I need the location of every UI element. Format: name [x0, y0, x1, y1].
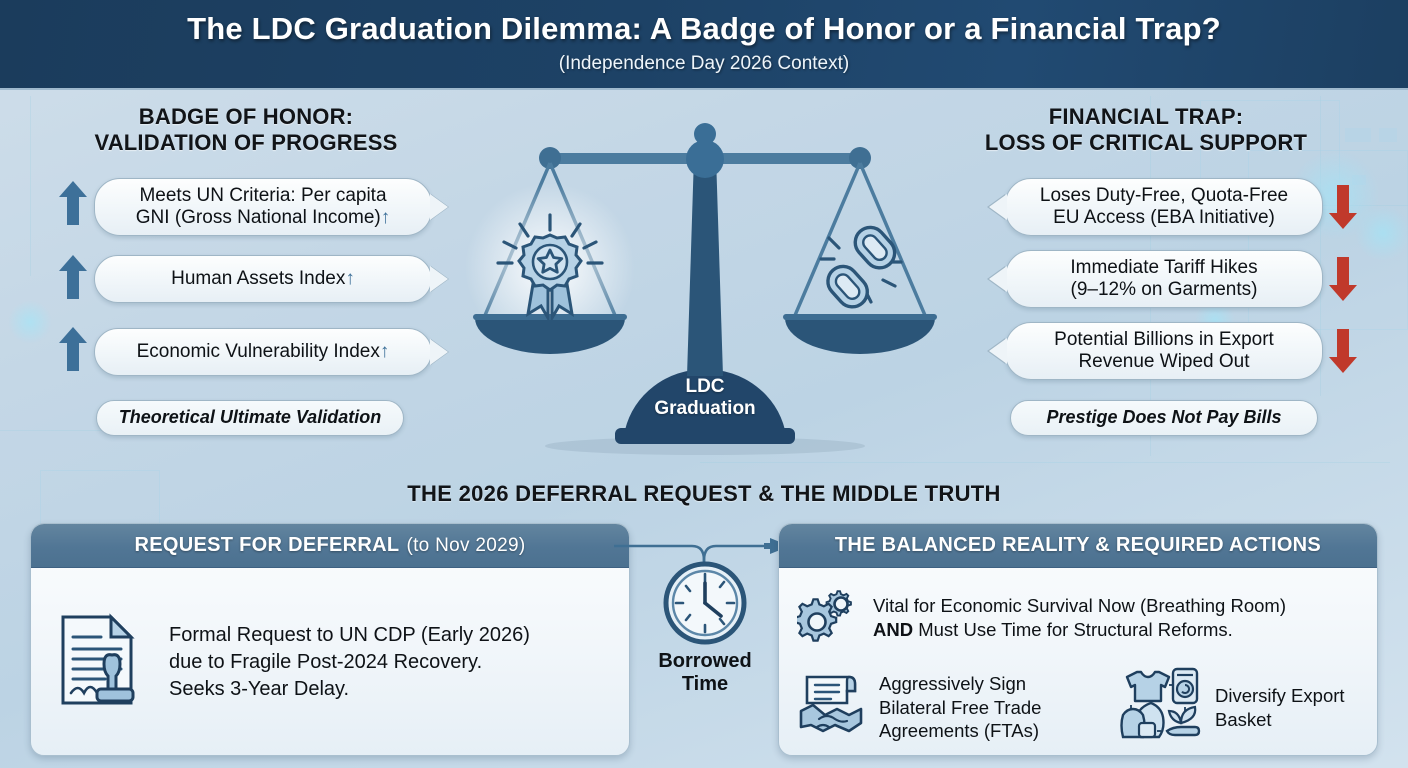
panel-left-body: Formal Request to UN CDP (Early 2026) du…	[169, 622, 530, 702]
page-subtitle: (Independence Day 2026 Context)	[559, 53, 849, 75]
panel-left-subtitle: (to Nov 2029)	[406, 535, 525, 557]
up-arrow-icon	[58, 254, 88, 300]
down-arrow-icon	[1328, 184, 1358, 230]
borrowed-time-label: Borrowed Time	[640, 650, 770, 696]
panel-left-body-line1: Formal Request to UN CDP (Early 2026)	[169, 622, 530, 649]
left-item-0-line1: Meets UN Criteria: Per capita	[139, 185, 386, 206]
up-arrow-icon	[58, 326, 88, 372]
balanced-reality-panel: THE BALANCED REALITY & REQUIRED ACTIONS	[778, 523, 1378, 756]
document-stamp-icon	[55, 611, 147, 714]
panel-right-row0-line2-bold: AND	[873, 619, 913, 640]
right-item-bubble: Immediate Tariff Hikes (9–12% on Garment…	[1005, 250, 1323, 308]
header-banner: The LDC Graduation Dilemma: A Badge of H…	[0, 0, 1408, 90]
bubble-tail	[989, 338, 1007, 364]
bubble-tail	[430, 194, 448, 220]
left-item-2-line1: Economic Vulnerability Index	[137, 341, 380, 362]
fulcrum-label: LDC Graduation	[455, 376, 955, 419]
clock-label-line2: Time	[640, 673, 770, 696]
panel-right-row2-line1: Diversify Export	[1215, 684, 1345, 707]
panel-right-row2-text: Diversify Export Basket	[1215, 684, 1345, 731]
panel-right-row1-line3: Agreements (FTAs)	[879, 719, 1041, 742]
panel-left-title: REQUEST FOR DEFERRAL	[135, 534, 400, 557]
handshake-contract-icon	[797, 669, 867, 746]
clock-icon	[640, 560, 770, 646]
left-heading-line1: BADGE OF HONOR:	[26, 104, 466, 130]
bubble-tail	[989, 266, 1007, 292]
left-heading-line2: VALIDATION OF PROGRESS	[26, 130, 466, 156]
panel-left-body-line3: Seeks 3-Year Delay.	[169, 676, 530, 703]
panel-right-row: Vital for Economic Survival Now (Breathi…	[797, 586, 1363, 649]
right-item-2-line1: Potential Billions in Export	[1054, 329, 1274, 350]
left-item-bubble: Human Assets Index↑	[94, 255, 432, 303]
gears-icon	[797, 586, 861, 649]
right-item-bubble: Potential Billions in Export Revenue Wip…	[1005, 322, 1323, 380]
left-footnote-pill: Theoretical Ultimate Validation	[96, 400, 404, 436]
right-heading-line1: FINANCIAL TRAP:	[906, 104, 1386, 130]
fulcrum-label-line1: LDC	[455, 376, 955, 398]
right-footnote-pill: Prestige Does Not Pay Bills	[1010, 400, 1318, 436]
left-item-bubble: Meets UN Criteria: Per capita GNI (Gross…	[94, 178, 432, 236]
panel-right-row2-line2: Basket	[1215, 708, 1345, 731]
panel-left-body-line2: due to Fragile Post-2024 Recovery.	[169, 649, 530, 676]
panel-right-title: THE BALANCED REALITY & REQUIRED ACTIONS	[835, 534, 1321, 557]
panel-right-row0-line1: Vital for Economic Survival Now (Breathi…	[873, 594, 1286, 617]
bubble-tail	[989, 194, 1007, 220]
panel-right-header: THE BALANCED REALITY & REQUIRED ACTIONS	[779, 524, 1377, 568]
inline-up-arrow-icon: ↑	[345, 268, 355, 289]
inline-up-arrow-icon: ↑	[380, 341, 390, 362]
right-item-0-line2: EU Access (EBA Initiative)	[1053, 207, 1275, 228]
down-arrow-icon	[1328, 256, 1358, 302]
panel-left-header: REQUEST FOR DEFERRAL (to Nov 2029)	[31, 524, 629, 568]
right-column-heading: FINANCIAL TRAP: LOSS OF CRITICAL SUPPORT	[906, 104, 1386, 156]
page-title: The LDC Graduation Dilemma: A Badge of H…	[187, 13, 1221, 46]
panel-right-row0-text: Vital for Economic Survival Now (Breathi…	[873, 594, 1286, 641]
panel-right-row1-line1: Aggressively Sign	[879, 672, 1041, 695]
borrowed-time-block: Borrowed Time	[640, 560, 770, 696]
panel-right-row1-text: Aggressively Sign Bilateral Free Trade A…	[879, 672, 1041, 742]
right-item-1-line1: Immediate Tariff Hikes	[1070, 257, 1257, 278]
balance-scale-graphic: LDC Graduation	[455, 108, 955, 458]
panel-right-row1-line2: Bilateral Free Trade	[879, 696, 1041, 719]
right-heading-line2: LOSS OF CRITICAL SUPPORT	[906, 130, 1386, 156]
panel-right-row: Diversify Export Basket	[1117, 665, 1345, 750]
panel-right-row0-line2-rest: Must Use Time for Structural Reforms.	[913, 619, 1233, 640]
right-item-2-line2: Revenue Wiped Out	[1078, 351, 1249, 372]
fulcrum-label-line2: Graduation	[455, 398, 955, 420]
request-for-deferral-panel: REQUEST FOR DEFERRAL (to Nov 2029)	[30, 523, 630, 756]
panel-right-row: Aggressively Sign Bilateral Free Trade A…	[797, 669, 1117, 746]
right-item-bubble: Loses Duty-Free, Quota-Free EU Access (E…	[1005, 178, 1323, 236]
bubble-tail	[430, 339, 448, 365]
left-item-bubble: Economic Vulnerability Index↑	[94, 328, 432, 376]
bubble-tail	[430, 266, 448, 292]
clock-label-line1: Borrowed	[640, 650, 770, 673]
left-item-1-line1: Human Assets Index	[171, 268, 345, 289]
left-column-heading: BADGE OF HONOR: VALIDATION OF PROGRESS	[26, 104, 466, 156]
middle-section-heading: THE 2026 DEFERRAL REQUEST & THE MIDDLE T…	[0, 481, 1408, 507]
export-basket-icon	[1117, 665, 1203, 750]
left-item-0-line2: GNI (Gross National Income)	[136, 207, 381, 228]
inline-up-arrow-icon: ↑	[381, 207, 391, 228]
up-arrow-icon	[58, 180, 88, 226]
right-item-0-line1: Loses Duty-Free, Quota-Free	[1040, 185, 1288, 206]
infographic-root: The LDC Graduation Dilemma: A Badge of H…	[0, 0, 1408, 768]
right-item-1-line2: (9–12% on Garments)	[1071, 279, 1258, 300]
down-arrow-icon	[1328, 328, 1358, 374]
